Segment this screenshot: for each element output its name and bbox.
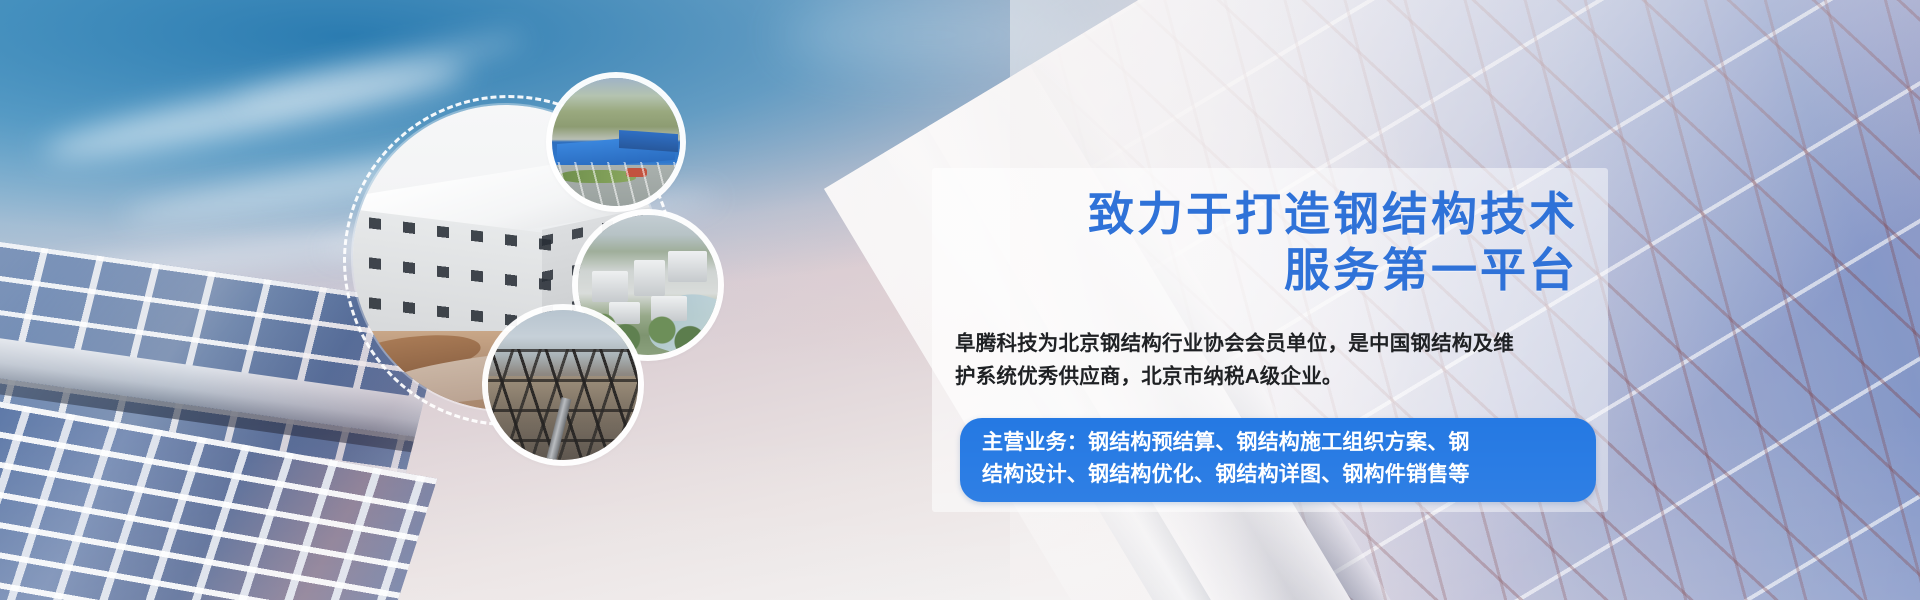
banner-paragraph: 阜腾科技为北京钢结构行业协会会员单位，是中国钢结构及维 护系统优秀供应商，北京市… — [955, 327, 1595, 393]
steel-truss-photo — [488, 310, 638, 460]
main-business-highlight: 主营业务：钢结构预结算、钢结构施工组织方案、钢 结构设计、钢结构优化、钢结构详图… — [960, 418, 1596, 502]
plant-lot-markings — [552, 162, 680, 206]
plant-blue-roof-secondary — [619, 130, 678, 152]
highlight-line-2: 结构设计、钢结构优化、钢结构详图、钢构件销售等 — [982, 459, 1578, 491]
campus-building — [668, 251, 707, 282]
paragraph-line-2: 护系统优秀供应商，北京市纳税A级企业。 — [955, 360, 1595, 393]
thumb-circle-factory-aerial — [552, 78, 680, 206]
campus-building — [592, 271, 628, 302]
hero-banner: 致力于打造钢结构技术 服务第一平台 阜腾科技为北京钢结构行业协会会员单位，是中国… — [0, 0, 1920, 600]
paragraph-line-1: 阜腾科技为北京钢结构行业协会会员单位，是中国钢结构及维 — [955, 327, 1595, 360]
campus-building — [634, 260, 665, 296]
headline-line-2: 服务第一平台 — [932, 242, 1578, 298]
thumb-circle-steel-truss — [488, 310, 638, 460]
headline-line-1: 致力于打造钢结构技术 — [1088, 187, 1578, 241]
blue-roof-factory-render — [552, 78, 680, 206]
highlight-line-1: 主营业务：钢结构预结算、钢结构施工组织方案、钢 — [982, 427, 1578, 459]
banner-headline: 致力于打造钢结构技术 服务第一平台 — [932, 186, 1608, 298]
